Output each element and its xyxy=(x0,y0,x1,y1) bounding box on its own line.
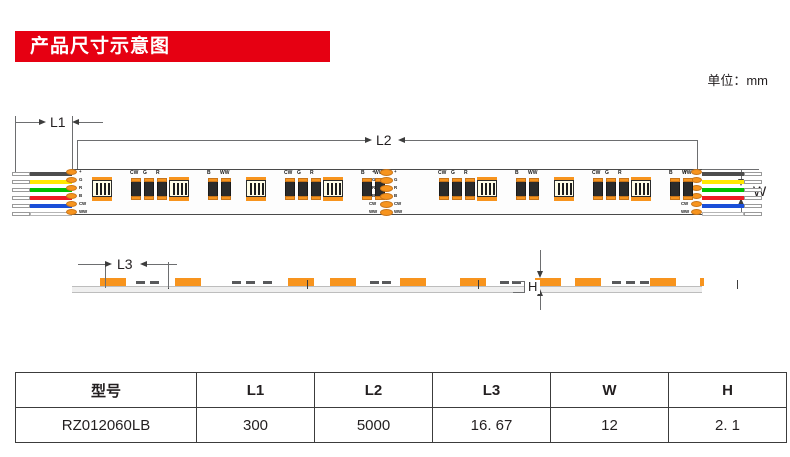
resistor-label: WW xyxy=(682,170,691,176)
resistor-solder-cap xyxy=(593,196,603,200)
resistor-solder-cap xyxy=(619,178,629,182)
solder-pad xyxy=(691,177,702,183)
resistor-package xyxy=(221,180,231,197)
resistor-solder-cap xyxy=(285,178,295,182)
table-cell: 12 xyxy=(551,408,669,443)
resistor-package xyxy=(144,180,154,197)
l3-label: L3 xyxy=(114,257,136,271)
table-cell: 5000 xyxy=(315,408,433,443)
led-die xyxy=(173,183,187,196)
resistor-package xyxy=(298,180,308,197)
led-package xyxy=(246,180,266,197)
pad-label-r: R xyxy=(79,185,82,190)
l1-arrow-left-icon xyxy=(39,119,46,125)
resistor-solder-cap xyxy=(144,196,154,200)
h-line-top xyxy=(540,250,541,272)
l3-arrow-right-icon xyxy=(140,261,147,267)
cut-pad xyxy=(380,201,393,208)
resistor-label: WW xyxy=(528,170,537,176)
side-component-block xyxy=(288,278,314,286)
led-solder-foot xyxy=(323,197,343,201)
h-tick-bottom xyxy=(513,292,525,293)
pad-label-b: B xyxy=(79,193,82,198)
pad-label-plus: + xyxy=(79,169,81,174)
resistor-label: B xyxy=(207,170,211,176)
h-line-bottom xyxy=(540,296,541,310)
resistor-solder-cap xyxy=(529,178,539,182)
led-solder-foot xyxy=(554,177,574,181)
wire-stub xyxy=(744,188,762,192)
wire-stub xyxy=(744,212,762,216)
wire-stub xyxy=(12,172,30,176)
resistor-package xyxy=(439,180,449,197)
led-solder-foot xyxy=(169,177,189,181)
resistor-solder-cap xyxy=(670,178,680,182)
cut-label-r: R xyxy=(372,185,375,190)
solder-pad xyxy=(66,185,77,191)
led-solder-foot xyxy=(169,197,189,201)
resistor-solder-cap xyxy=(311,178,321,182)
resistor-label: R xyxy=(310,170,314,176)
table-header-cell: H xyxy=(669,373,787,408)
resistor-package xyxy=(516,180,526,197)
side-resistor-mark xyxy=(612,281,621,284)
resistor-solder-cap xyxy=(670,196,680,200)
solder-pad xyxy=(66,169,77,175)
side-component-block xyxy=(460,278,486,286)
led-solder-foot xyxy=(477,197,497,201)
resistor-solder-cap xyxy=(131,178,141,182)
cut-label-r: R xyxy=(394,185,397,190)
resistor-solder-cap xyxy=(298,178,308,182)
wire-stub xyxy=(12,196,30,200)
resistor-package xyxy=(362,180,372,197)
resistor-solder-cap xyxy=(311,196,321,200)
led-solder-foot xyxy=(323,177,343,181)
resistor-package xyxy=(311,180,321,197)
resistor-solder-cap xyxy=(683,178,693,182)
led-die xyxy=(250,183,264,196)
resistor-label: R xyxy=(156,170,160,176)
resistor-solder-cap xyxy=(362,178,372,182)
side-resistor-mark xyxy=(382,281,391,284)
side-component-block xyxy=(700,278,704,286)
solder-pad xyxy=(691,185,702,191)
resistor-solder-cap xyxy=(208,178,218,182)
side-resistor-mark xyxy=(370,281,379,284)
resistor-solder-cap xyxy=(593,178,603,182)
resistor-package xyxy=(131,180,141,197)
page-title: 产品尺寸示意图 xyxy=(30,33,170,60)
resistor-package xyxy=(606,180,616,197)
led-die xyxy=(481,183,495,196)
table-cell: RZ012060LB xyxy=(16,408,197,443)
cut-label-cw: CW xyxy=(369,201,376,206)
resistor-solder-cap xyxy=(683,196,693,200)
wire-cw xyxy=(702,204,744,208)
wire-stub xyxy=(12,204,30,208)
cut-label-cw: CW xyxy=(394,201,401,206)
resistor-label: WW xyxy=(220,170,229,176)
table-row: RZ012060LB300500016. 67122. 1 xyxy=(16,408,787,443)
cut-label-g: G xyxy=(372,177,375,182)
resistor-solder-cap xyxy=(439,196,449,200)
pad-label-cw: CW xyxy=(79,201,86,206)
resistor-solder-cap xyxy=(619,196,629,200)
side-resistor-mark xyxy=(500,281,509,284)
cut-label-plus: + xyxy=(394,169,396,174)
resistor-label: G xyxy=(605,170,609,176)
resistor-package xyxy=(157,180,167,197)
side-view-diagram: L3 H xyxy=(0,250,790,310)
resistor-solder-cap xyxy=(465,196,475,200)
cut-label-b: B xyxy=(394,193,397,198)
cut-pad xyxy=(380,185,393,192)
table-cell: 2. 1 xyxy=(669,408,787,443)
table-header-cell: L3 xyxy=(433,373,551,408)
resistor-solder-cap xyxy=(529,196,539,200)
resistor-solder-cap xyxy=(362,196,372,200)
led-die xyxy=(96,183,110,196)
led-package xyxy=(477,180,497,197)
resistor-label: CW xyxy=(284,170,292,176)
cut-label-b: B xyxy=(372,193,375,198)
resistor-solder-cap xyxy=(606,196,616,200)
solder-pad xyxy=(691,193,702,199)
wire-stub xyxy=(12,180,30,184)
led-solder-foot xyxy=(92,197,112,201)
led-solder-foot xyxy=(246,197,266,201)
resistor-solder-cap xyxy=(452,178,462,182)
side-strip-board xyxy=(72,286,702,293)
side-component-block xyxy=(400,278,426,286)
resistor-solder-cap xyxy=(221,178,231,182)
cut-label-g: G xyxy=(394,177,397,182)
solder-pad xyxy=(66,193,77,199)
resistor-solder-cap xyxy=(516,178,526,182)
side-resistor-mark xyxy=(232,281,241,284)
wire-ww xyxy=(702,212,744,216)
l2-label: L2 xyxy=(373,133,395,147)
table-header-cell: W xyxy=(551,373,669,408)
resistor-solder-cap xyxy=(144,178,154,182)
resistor-label: G xyxy=(297,170,301,176)
cut-pad xyxy=(380,193,393,200)
side-component-block xyxy=(175,278,201,286)
resistor-solder-cap xyxy=(465,178,475,182)
wire-bundle-left xyxy=(0,169,72,213)
table-header-row: 型号L1L2L3WH xyxy=(16,373,787,408)
resistor-package xyxy=(619,180,629,197)
l3-line-left xyxy=(78,264,105,265)
solder-pad xyxy=(66,177,77,183)
l1-arrow-right-icon xyxy=(72,119,79,125)
l2-arrow-left-icon xyxy=(365,137,372,143)
table-cell: 300 xyxy=(197,408,315,443)
side-resistor-mark xyxy=(150,281,159,284)
side-pitch-tick xyxy=(737,280,738,289)
side-component-block xyxy=(330,278,356,286)
wire-b xyxy=(702,196,744,200)
resistor-solder-cap xyxy=(606,178,616,182)
side-resistor-mark xyxy=(263,281,272,284)
l3-line-right xyxy=(147,264,177,265)
resistor-solder-cap xyxy=(516,196,526,200)
l1-label: L1 xyxy=(47,115,69,129)
resistor-solder-cap xyxy=(439,178,449,182)
resistor-label: CW xyxy=(592,170,600,176)
led-die xyxy=(327,183,341,196)
l2-line-left xyxy=(77,140,365,141)
l1-extension-right xyxy=(72,116,73,174)
wire-stub xyxy=(744,172,762,176)
l3-extension-right xyxy=(168,262,169,288)
resistor-label: CW xyxy=(438,170,446,176)
resistor-package xyxy=(593,180,603,197)
led-die xyxy=(558,183,572,196)
resistor-label: G xyxy=(143,170,147,176)
led-package xyxy=(323,180,343,197)
l1-extension-left xyxy=(15,116,16,176)
resistor-solder-cap xyxy=(157,178,167,182)
cut-pad xyxy=(380,177,393,184)
wire-stub xyxy=(12,212,30,216)
resistor-solder-cap xyxy=(298,196,308,200)
table-header-cell: L2 xyxy=(315,373,433,408)
wire-stub xyxy=(12,188,30,192)
resistor-solder-cap xyxy=(452,196,462,200)
resistor-package xyxy=(465,180,475,197)
wire-stub xyxy=(744,204,762,208)
l2-line-right xyxy=(405,140,698,141)
unit-note: 单位：mm xyxy=(707,70,768,89)
wire-r xyxy=(702,188,744,192)
pad-label-ww: WW xyxy=(681,209,689,214)
wire-g xyxy=(702,180,744,184)
wire-stub xyxy=(744,180,762,184)
resistor-label: G xyxy=(451,170,455,176)
resistor-solder-cap xyxy=(285,196,295,200)
solder-pad xyxy=(691,209,702,215)
resistor-solder-cap xyxy=(208,196,218,200)
cut-pad xyxy=(380,169,393,176)
side-resistor-mark xyxy=(640,281,649,284)
l1-line-left xyxy=(15,122,39,123)
resistor-label: CW xyxy=(130,170,138,176)
h-arrow-top-icon xyxy=(537,271,543,278)
table-header-cell: L1 xyxy=(197,373,315,408)
solder-pad xyxy=(691,169,702,175)
resistor-label: B xyxy=(669,170,673,176)
resistor-label: B xyxy=(361,170,365,176)
side-component-block xyxy=(100,278,126,286)
led-die xyxy=(635,183,649,196)
cut-pad xyxy=(380,209,393,216)
led-solder-foot xyxy=(631,197,651,201)
led-solder-foot xyxy=(554,197,574,201)
side-pitch-tick xyxy=(307,280,308,289)
cut-label-plus: + xyxy=(372,169,374,174)
side-pitch-tick xyxy=(478,280,479,289)
resistor-package xyxy=(683,180,693,197)
side-component-block xyxy=(650,278,676,286)
led-package xyxy=(92,180,112,197)
resistor-label: R xyxy=(464,170,468,176)
side-resistor-mark xyxy=(626,281,635,284)
led-package xyxy=(554,180,574,197)
resistor-package xyxy=(208,180,218,197)
pad-label-g: G xyxy=(79,177,82,182)
side-component-block xyxy=(575,278,601,286)
resistor-solder-cap xyxy=(131,196,141,200)
solder-pad xyxy=(691,201,702,207)
l1-line-right xyxy=(79,122,103,123)
wire-stub xyxy=(744,196,762,200)
table-cell: 16. 67 xyxy=(433,408,551,443)
l3-arrow-left-icon xyxy=(105,261,112,267)
pad-label-cw: CW xyxy=(681,201,688,206)
top-view-diagram: L1 L2 W + G R B xyxy=(0,100,790,230)
pad-label-ww: WW xyxy=(79,209,87,214)
resistor-package xyxy=(285,180,295,197)
l2-arrow-right-icon xyxy=(398,137,405,143)
led-solder-foot xyxy=(631,177,651,181)
resistor-label: R xyxy=(618,170,622,176)
resistor-solder-cap xyxy=(157,196,167,200)
led-package xyxy=(169,180,189,197)
side-resistor-mark xyxy=(136,281,145,284)
wire-bundle-right xyxy=(702,169,790,213)
led-solder-foot xyxy=(246,177,266,181)
resistor-package xyxy=(529,180,539,197)
solder-pad xyxy=(66,201,77,207)
led-solder-foot xyxy=(477,177,497,181)
led-package xyxy=(631,180,651,197)
wire-plus xyxy=(702,172,744,176)
resistor-package xyxy=(670,180,680,197)
table-header-cell: 型号 xyxy=(16,373,197,408)
resistor-solder-cap xyxy=(221,196,231,200)
solder-pad xyxy=(66,209,77,215)
resistor-package xyxy=(452,180,462,197)
cut-label-ww: WW xyxy=(369,209,377,214)
resistor-label: B xyxy=(515,170,519,176)
h-label: H xyxy=(525,280,540,294)
spec-table: 型号L1L2L3WHRZ012060LB300500016. 67122. 1 xyxy=(15,372,787,443)
led-solder-foot xyxy=(92,177,112,181)
cut-label-ww: WW xyxy=(394,209,402,214)
side-resistor-mark xyxy=(246,281,255,284)
